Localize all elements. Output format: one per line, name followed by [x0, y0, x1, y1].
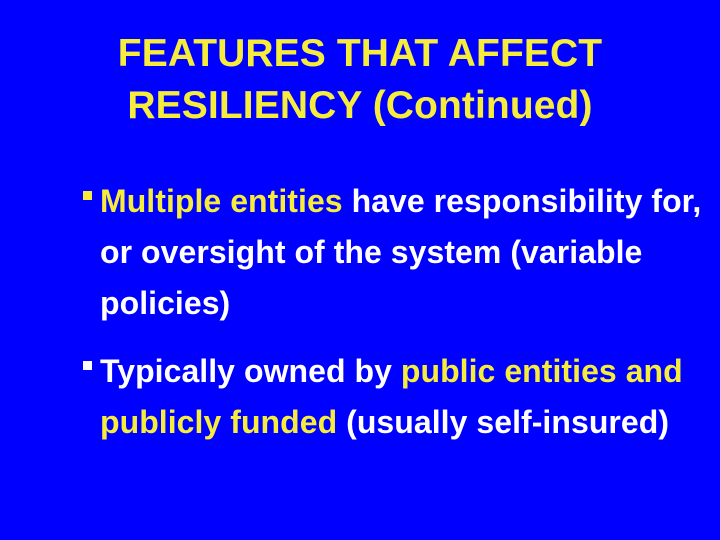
- bullet-1-segment-1: Multiple entities: [100, 183, 343, 219]
- page-title: FEATURES THAT AFFECT RESILIENCY (Continu…: [60, 28, 660, 132]
- bullet-text-2: Typically owned by public entities and p…: [100, 346, 707, 448]
- square-bullet-icon: [83, 191, 92, 200]
- bullet-2-segment-3: (usually self-insured): [337, 404, 669, 440]
- bullet-list: Multiple entities have responsibility fo…: [82, 176, 707, 448]
- bullet-2-segment-1: Typically owned by: [100, 353, 401, 389]
- list-item: Multiple entities have responsibility fo…: [82, 176, 707, 329]
- bullet-text-1: Multiple entities have responsibility fo…: [100, 176, 707, 329]
- title-line-2: RESILIENCY (Continued): [60, 80, 660, 132]
- title-line-1: FEATURES THAT AFFECT: [60, 28, 660, 80]
- square-bullet-icon: [83, 361, 92, 370]
- slide-canvas: FEATURES THAT AFFECT RESILIENCY (Continu…: [0, 0, 720, 540]
- list-item: Typically owned by public entities and p…: [82, 346, 707, 448]
